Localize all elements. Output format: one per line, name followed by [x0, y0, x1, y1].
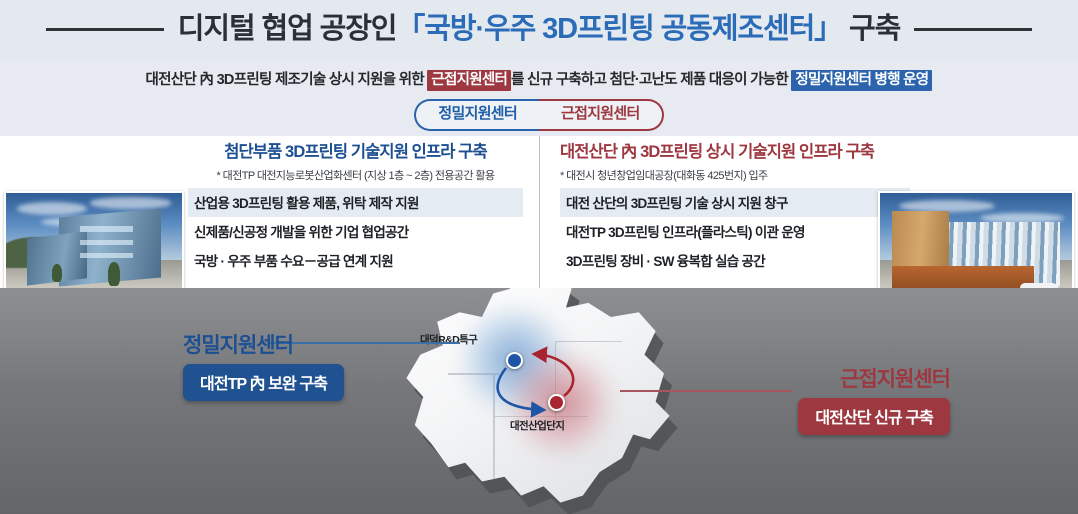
title-bracket-close: 」	[814, 13, 842, 45]
list-item: 대전 산단의 3D프린팅 기술 상시 지원 창구	[560, 188, 910, 217]
title-accent: 국방·우주 3D프린팅 공동제조센터	[424, 13, 814, 45]
page-title: 디지털 협업 공장인「국방·우주 3D프린팅 공동제조센터」 구축	[178, 15, 900, 44]
daejeon-map: 대덕R&D특구 대전산업단지	[398, 288, 698, 514]
map-label-daedeok: 대덕R&D특구	[420, 332, 477, 347]
callout-right-badge[interactable]: 대전산단 신규 구축	[798, 398, 950, 435]
column-right-note: * 대전시 청년창업임대공장(대화동 425번지) 입주	[560, 167, 910, 183]
tab-pill-group: 정밀지원센터 근접지원센터	[414, 99, 663, 131]
list-item: 신제품/신공정 개발을 위한 기업 협업공간	[188, 217, 523, 246]
subtitle-band: 대전산단 內 3D프린팅 제조기술 상시 지원을 위한 근접지원센터를 신규 구…	[0, 58, 1078, 98]
tab-proximity-support-center[interactable]: 근접지원센터	[539, 99, 664, 131]
title-rule-left	[46, 28, 164, 31]
infographic-root: 디지털 협업 공장인「국방·우주 3D프린팅 공동제조센터」 구축 대전산단 內…	[0, 0, 1078, 514]
subtitle-text: 대전산단 內 3D프린팅 제조기술 상시 지원을 위한 근접지원센터를 신규 구…	[146, 68, 933, 89]
photo-cloud	[17, 202, 87, 215]
subtitle-part2: 를 신규 구축하고 첨단·고난도 제품 대응이 가능한	[511, 72, 791, 88]
column-left-heading: 첨단부품 3D프린팅 기술지원 인프라 구축	[188, 143, 523, 163]
map-section: 대덕R&D특구 대전산업단지	[0, 288, 1078, 514]
leader-line-right	[620, 390, 792, 392]
subtitle-highlight-blue: 정밀지원센터 병행 운영	[791, 70, 932, 91]
photo-cloud	[90, 197, 171, 208]
tab-bar: 정밀지원센터 근접지원센터	[0, 99, 1078, 131]
title-suffix: 구축	[849, 13, 900, 45]
list-item: 산업용 3D프린팅 활용 제품, 위탁 제작 지원	[188, 188, 523, 217]
photo-window	[80, 253, 133, 259]
title-prefix: 디지털 협업 공장인	[178, 13, 397, 45]
column-right-heading: 대전산단 內 3D프린팅 상시 기술지원 인프라 구축	[560, 143, 910, 163]
list-item: 국방 · 우주 부품 수요－공급 연계 지원	[188, 246, 523, 275]
column-left-list: 산업용 3D프린팅 활용 제품, 위탁 제작 지원 신제품/신공정 개발을 위한…	[188, 188, 523, 275]
callout-left-title: 정밀지원센터	[183, 334, 344, 357]
callout-left-badge[interactable]: 대전TP 內 보완 구축	[183, 364, 344, 401]
map-marker-industrial-complex[interactable]	[548, 394, 565, 411]
list-item: 대전TP 3D프린팅 인프라(플라스틱) 이관 운영	[560, 217, 910, 246]
callout-proximity-support: 근접지원센터 대전산단 신규 구축	[798, 368, 950, 435]
column-right-list: 대전 산단의 3D프린팅 기술 상시 지원 창구 대전TP 3D프린팅 인프라(…	[560, 188, 910, 275]
subtitle-highlight-red: 근접지원센터	[427, 70, 511, 91]
callout-right-title: 근접지원센터	[798, 368, 950, 391]
photo-tree	[108, 262, 120, 286]
title-rule-right	[914, 28, 1032, 31]
arrow-blue-to-red	[498, 368, 544, 410]
subtitle-part1: 대전산단 內 3D프린팅 제조기술 상시 지원을 위한	[146, 72, 428, 88]
header-band: 디지털 협업 공장인「국방·우주 3D프린팅 공동제조센터」 구축	[0, 0, 1078, 58]
photo-window	[80, 226, 133, 232]
map-label-industrial-complex: 대전산업단지	[510, 418, 564, 433]
map-marker-daedeok[interactable]	[506, 352, 523, 369]
photo-window	[80, 240, 133, 246]
arrow-red-to-blue	[534, 354, 573, 396]
callout-precision-support: 정밀지원센터 대전TP 內 보완 구축	[183, 334, 344, 401]
tab-precision-support-center[interactable]: 정밀지원센터	[414, 99, 539, 131]
photo-tree	[52, 264, 63, 282]
title-bracket-open: 「	[396, 13, 424, 45]
list-item: 3D프린팅 장비 · SW 융복합 실습 공간	[560, 246, 910, 275]
column-left-note: * 대전TP 대전지능로봇산업화센터 (지상 1층 ~ 2층) 전용공간 활용	[188, 167, 523, 183]
